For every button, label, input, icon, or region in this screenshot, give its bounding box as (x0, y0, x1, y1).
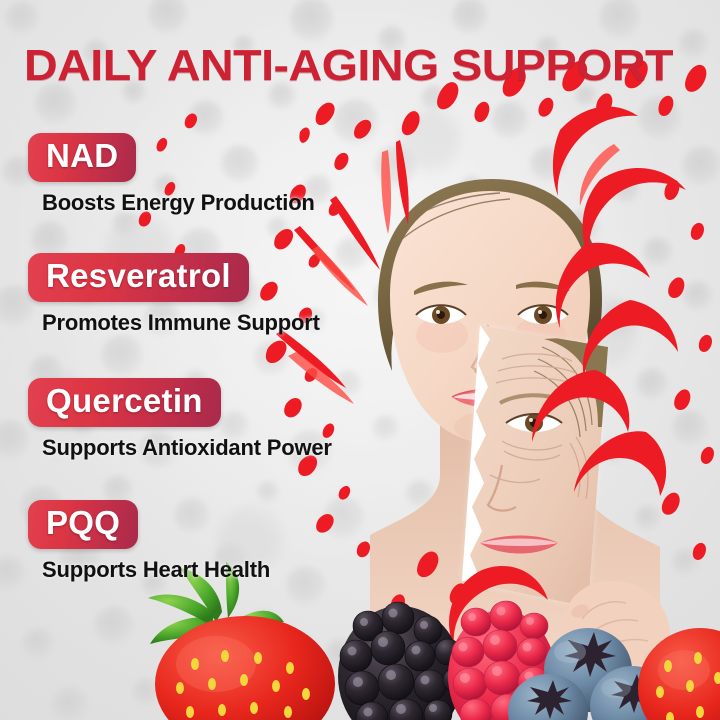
benefit-description-nad: Boosts Energy Production (42, 190, 315, 216)
ingredient-badge-resveratrol[interactable]: Resveratrol (28, 253, 249, 302)
benefit-description-resveratrol: Promotes Immune Support (42, 310, 320, 336)
benefit-item-nad: NAD Boosts Energy Production (28, 133, 315, 216)
benefit-item-resveratrol: Resveratrol Promotes Immune Support (28, 253, 320, 336)
ingredient-badge-nad[interactable]: NAD (28, 133, 136, 182)
strawberry-right (638, 628, 720, 720)
benefit-description-quercetin: Supports Antioxidant Power (42, 435, 332, 461)
benefit-item-quercetin: Quercetin Supports Antioxidant Power (28, 378, 332, 461)
ingredient-badge-quercetin[interactable]: Quercetin (28, 378, 221, 427)
benefit-item-pqq: PQQ Supports Heart Health (28, 500, 270, 583)
ingredient-badge-pqq[interactable]: PQQ (28, 500, 138, 549)
poster-canvas: DAILY ANTI-AGING SUPPORT NAD Boosts Ener… (0, 0, 720, 720)
benefit-list: NAD Boosts Energy Production Resveratrol… (0, 0, 460, 720)
benefit-description-pqq: Supports Heart Health (42, 557, 270, 583)
